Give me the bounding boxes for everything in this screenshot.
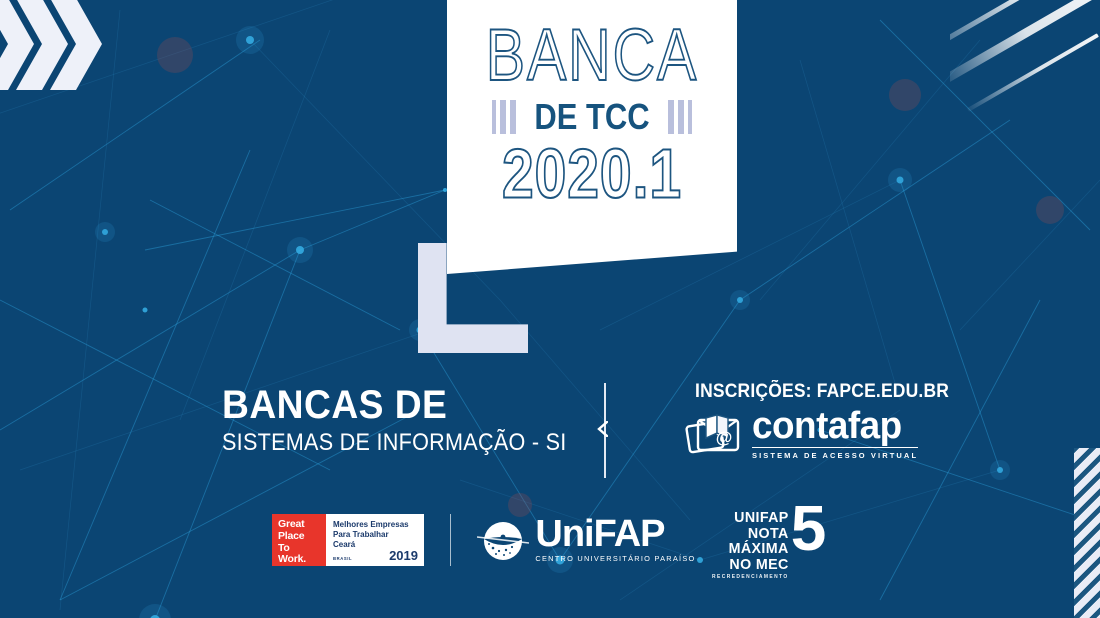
headline-block: BANCAS DE SISTEMAS DE INFORMAÇÃO - SI xyxy=(222,385,605,456)
mec-score-value: 5 xyxy=(791,504,827,554)
contafap-tagline: SISTEMA DE ACESSO VIRTUAL xyxy=(752,447,918,460)
unifap-wordmark: UniFAP xyxy=(535,517,695,551)
unifap-globe-icon xyxy=(477,517,529,563)
gptw-country: BRASIL xyxy=(333,556,352,561)
great-place-to-work-badge: Great Place To Work. Melhores Empresas P… xyxy=(272,514,424,566)
gptw-award-panel: Melhores Empresas Para Trabalhar Ceará B… xyxy=(326,514,424,566)
gptw-award-line-2: Para Trabalhar xyxy=(333,530,418,540)
chevron-left-icon xyxy=(596,421,608,437)
vertical-divider xyxy=(596,383,614,478)
card-title: BANCA xyxy=(454,20,730,93)
gptw-red-panel: Great Place To Work. xyxy=(272,514,326,566)
mec-line-3: MÁXIMA xyxy=(712,541,789,557)
unifap-logo: UniFAP CENTRO UNIVERSITÁRIO PARAÍSO xyxy=(477,517,695,563)
envelope-at-icon: @ xyxy=(684,412,742,456)
mec-score-logo: UNIFAP NOTA MÁXIMA NO MEC RECREDENCIAMEN… xyxy=(708,508,826,581)
mec-line-1: UNIFAP xyxy=(712,510,789,526)
registration-block: INSCRIÇÕES: FAPCE.EDU.BR @ contafap SIST… xyxy=(684,381,960,460)
headline-line-2: SISTEMAS DE INFORMAÇÃO - SI xyxy=(222,429,567,457)
contafap-wordmark: contafap xyxy=(752,409,913,444)
left-bars-decoration xyxy=(492,100,516,134)
unifap-subtitle: CENTRO UNIVERSITÁRIO PARAÍSO xyxy=(535,554,695,563)
mec-line-4: NO MEC xyxy=(712,557,789,573)
registration-label[interactable]: INSCRIÇÕES: FAPCE.EDU.BR xyxy=(695,381,949,403)
logo-divider xyxy=(450,514,451,566)
title-card: BANCA DE TCC 2020.1 xyxy=(447,0,737,274)
right-bars-decoration xyxy=(668,100,692,134)
gptw-year: 2019 xyxy=(389,548,418,563)
mec-footnote: RECREDENCIAMENTO xyxy=(712,575,789,580)
contafap-logo: @ contafap SISTEMA DE ACESSO VIRTUAL xyxy=(684,409,960,460)
partner-logo-strip: Great Place To Work. Melhores Empresas P… xyxy=(272,514,696,566)
gptw-line-4: Work. xyxy=(278,554,326,566)
chevron-right-icons xyxy=(0,0,142,94)
gptw-line-2: Place xyxy=(278,531,326,543)
headline-line-1: BANCAS DE xyxy=(222,385,578,426)
card-year: 2020.1 xyxy=(459,140,726,209)
diagonal-streak-decoration xyxy=(950,0,1100,120)
card-subtitle-row: DE TCC xyxy=(447,96,737,138)
gptw-line-1: Great xyxy=(278,519,326,531)
hatched-band-decoration xyxy=(1074,448,1100,618)
card-subtitle: DE TCC xyxy=(534,96,649,138)
tcc-banner: BANCA DE TCC 2020.1 BANCAS DE SISTEMAS D… xyxy=(0,0,1100,618)
gptw-award-line-1: Melhores Empresas xyxy=(333,520,418,530)
streak-line-2 xyxy=(950,0,1098,86)
mec-line-2: NOTA xyxy=(712,526,789,542)
streak-line-3 xyxy=(967,33,1099,111)
svg-text:@: @ xyxy=(716,428,733,447)
